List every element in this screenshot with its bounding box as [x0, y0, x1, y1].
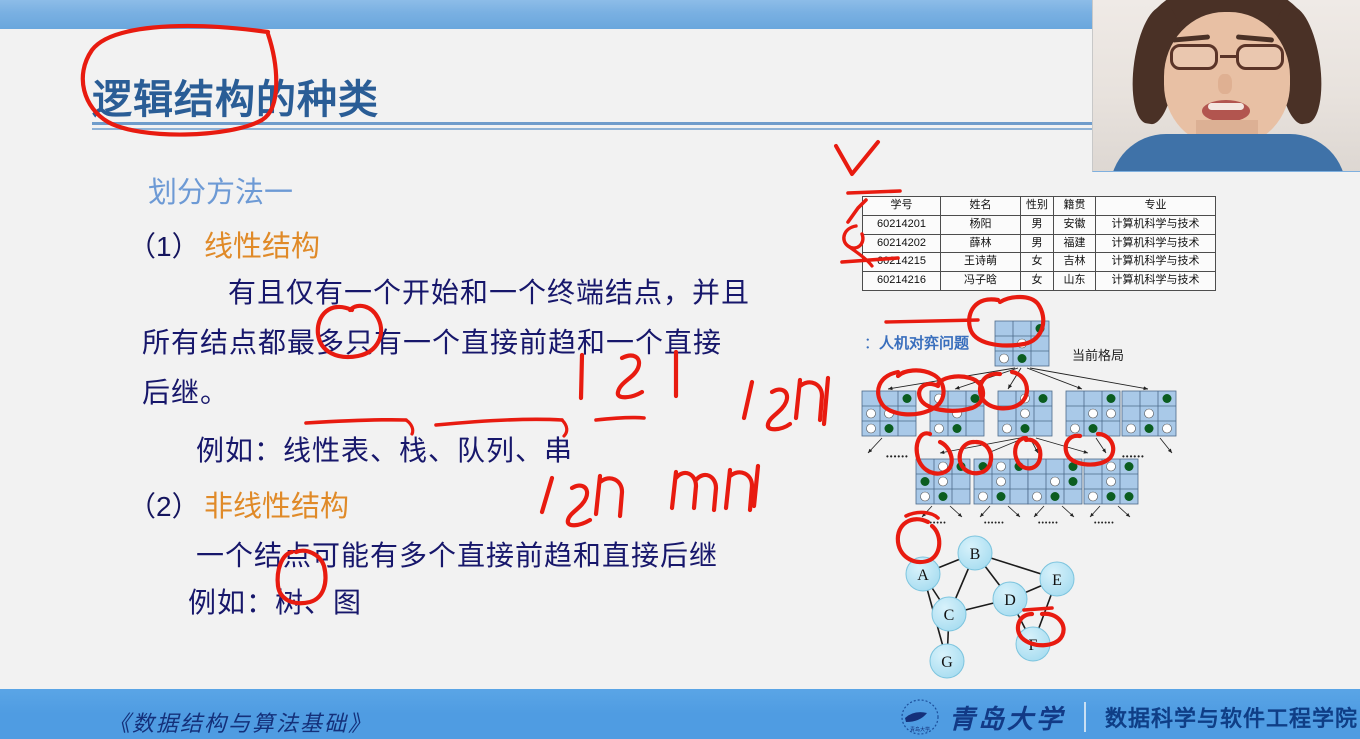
table-cell: 计算机科学与技术: [1096, 215, 1216, 234]
svg-text:F: F: [1029, 637, 1038, 654]
body-line-3: 后继。: [142, 371, 229, 411]
title-rule-lower: [92, 128, 1242, 130]
table-cell: 王诗萌: [941, 253, 1021, 272]
graph-node-f: F: [1016, 627, 1050, 661]
table-row: 60214215 王诗萌 女 吉林 计算机科学与技术: [863, 253, 1216, 272]
table-cell: 杨阳: [941, 215, 1021, 234]
graph-node-c: C: [932, 597, 966, 631]
svg-text:••••••: ••••••: [984, 520, 1005, 527]
table-cell: 冯子晗: [941, 272, 1021, 291]
table-row: 60214201 杨阳 男 安徽 计算机科学与技术: [863, 215, 1216, 234]
table-cell: 60214216: [863, 272, 941, 291]
table-header-cell: 性别: [1021, 197, 1054, 216]
table-cell: 60214202: [863, 234, 941, 253]
footer-university-name: 青岛大学: [949, 699, 1065, 736]
section-number-2: （2）: [128, 485, 200, 525]
table-cell: 女: [1021, 253, 1054, 272]
body-line-1: 有且仅有一个开始和一个终端结点，并且: [228, 271, 750, 311]
table-header-cell: 专业: [1096, 197, 1216, 216]
table-cell: 女: [1021, 272, 1054, 291]
body-line-example-nonlinear: 例如：树、图: [188, 581, 362, 621]
svg-text:A: A: [917, 567, 929, 584]
table-cell: 计算机科学与技术: [1096, 272, 1216, 291]
table-cell: 福建: [1054, 234, 1096, 253]
table-cell: 计算机科学与技术: [1096, 253, 1216, 272]
instructor-webcam[interactable]: [1092, 0, 1360, 172]
graph-node-a: A: [906, 557, 940, 591]
table-header-cell: 学号: [863, 197, 941, 216]
table-header-cell: 籍贯: [1054, 197, 1096, 216]
game-tree-diagram: •••••• ••••••: [860, 319, 1180, 534]
svg-text:B: B: [970, 546, 981, 563]
slide-subtitle: 划分方法一: [148, 169, 293, 211]
body-line-2: 所有结点都最多只有一个直接前趋和一个直接: [142, 321, 722, 361]
table-cell: 60214215: [863, 253, 941, 272]
title-rule-upper: [92, 122, 1242, 125]
table-header-row: 学号 姓名 性别 籍贯 专业: [863, 197, 1216, 216]
svg-text:G: G: [941, 654, 953, 671]
graph-node-g: G: [930, 644, 964, 678]
body-line-example-linear: 例如：线性表、栈、队列、串: [196, 429, 573, 469]
footer-department-name: 数据科学与软件工程学院: [1105, 701, 1358, 733]
footer-logo-group: 青岛大学 青岛大学 数据科学与软件工程学院: [900, 698, 1358, 736]
page-title: 逻辑结构的种类: [92, 67, 379, 125]
section-label-linear: 线性结构: [204, 223, 320, 265]
table-cell: 薛林: [941, 234, 1021, 253]
table-cell: 山东: [1054, 272, 1096, 291]
table-cell: 60214201: [863, 215, 941, 234]
university-seal-icon: 青岛大学: [900, 698, 940, 736]
table-cell: 安徽: [1054, 215, 1096, 234]
student-table: 学号 姓名 性别 籍贯 专业 60214201 杨阳 男 安徽 计算机科学与技术…: [862, 196, 1216, 291]
footer-divider: [1084, 702, 1086, 732]
svg-text:••••••: ••••••: [1038, 520, 1059, 527]
svg-text:D: D: [1004, 592, 1016, 609]
svg-text:C: C: [944, 607, 955, 624]
table-cell: 男: [1021, 234, 1054, 253]
graph-node-d: D: [993, 582, 1027, 616]
table-header-cell: 姓名: [941, 197, 1021, 216]
table-row: 60214202 薛林 男 福建 计算机科学与技术: [863, 234, 1216, 253]
section-label-nonlinear: 非线性结构: [204, 483, 349, 525]
table-cell: 计算机科学与技术: [1096, 234, 1216, 253]
graph-node-e: E: [1040, 562, 1074, 596]
section-number-1: （1）: [128, 225, 200, 265]
graph-diagram: A B C D E F G: [885, 529, 1095, 689]
footer-course-title: 《数据结构与算法基础》: [108, 706, 372, 738]
svg-text:E: E: [1052, 572, 1062, 589]
webcam-border: [1092, 0, 1360, 172]
game-tree-ellipsis-left: ••••••: [886, 452, 909, 461]
table-cell: 吉林: [1054, 253, 1096, 272]
svg-text:青岛大学: 青岛大学: [910, 726, 930, 733]
svg-text:••••••: ••••••: [926, 520, 947, 527]
svg-text:••••••: ••••••: [1094, 520, 1115, 527]
body-line-4: 一个结点可能有多个直接前趋和直接后继: [196, 534, 718, 574]
graph-node-b: B: [958, 536, 992, 570]
table-cell: 男: [1021, 215, 1054, 234]
table-row: 60214216 冯子晗 女 山东 计算机科学与技术: [863, 272, 1216, 291]
